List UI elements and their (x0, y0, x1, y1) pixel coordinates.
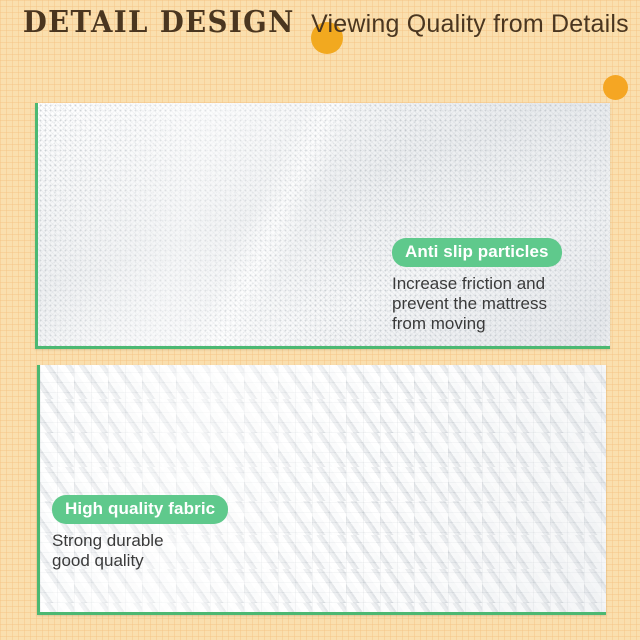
callout-high-quality-fabric: High quality fabric Strong durable good … (52, 495, 267, 571)
callout-anti-slip-description: Increase friction and prevent the mattre… (392, 274, 592, 334)
title-block: DETAIL DESIGN (11, 8, 307, 38)
product-photo-high-quality-fabric (37, 365, 606, 615)
page-title: DETAIL DESIGN (23, 8, 295, 38)
fabric-texture-chevron (40, 365, 606, 612)
badge-high-quality-fabric: High quality fabric (52, 495, 228, 524)
page-subtitle: Viewing Quality from Details (311, 12, 629, 37)
callout-fabric-description: Strong durable good quality (52, 531, 267, 571)
page-header: DETAIL DESIGN Viewing Quality from Detai… (0, 0, 640, 96)
badge-anti-slip-particles: Anti slip particles (392, 238, 562, 267)
orange-circle-icon (603, 75, 628, 100)
callout-anti-slip: Anti slip particles Increase friction an… (392, 238, 592, 334)
detail-design-page: DETAIL DESIGN Viewing Quality from Detai… (0, 0, 640, 640)
subtitle-block: Viewing Quality from Details (311, 12, 629, 37)
